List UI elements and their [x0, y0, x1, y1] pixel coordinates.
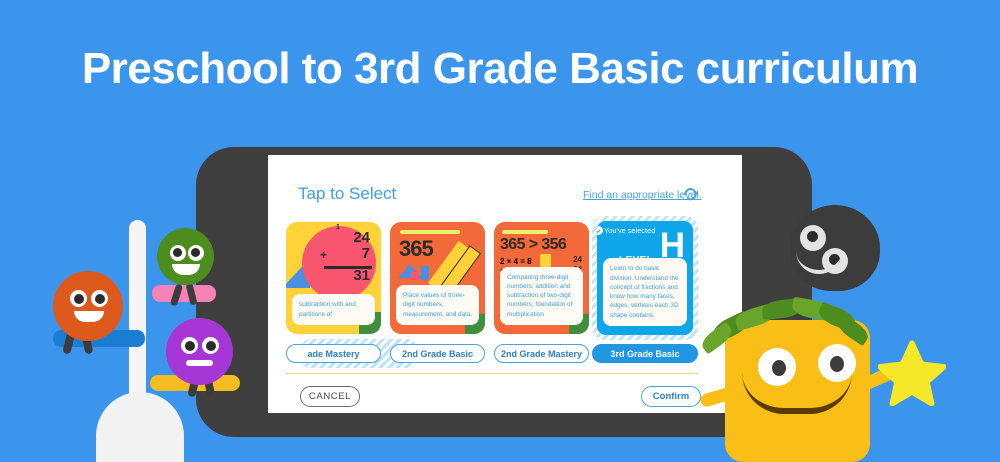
white-pole — [129, 220, 146, 410]
tab-2nd-grade-mastery[interactable]: 2nd Grade Mastery — [494, 344, 589, 363]
eq-line-1: 2 × 4 = 8 — [500, 257, 532, 266]
tab-2nd-grade-basic[interactable]: 2nd Grade Basic — [390, 344, 485, 363]
footer-divider — [286, 373, 698, 374]
check-circle-icon — [597, 226, 603, 235]
level-card-3[interactable]: 365 > 356 2 × 4 = 8 2 × 5 = 10 24 + 24 C… — [494, 222, 589, 334]
sum-result: 31 — [330, 268, 370, 283]
screen-title: Tap to Select — [298, 184, 396, 204]
addend-bottom: 7 — [330, 246, 370, 261]
card-description: Learn to do basic division. Understand t… — [603, 258, 687, 326]
screenshot-stage: Preschool to 3rd Grade Basic curriculum — [0, 0, 1000, 462]
card-description: subtraction with and partitions of — [292, 294, 375, 325]
cancel-button[interactable]: CANCEL — [300, 386, 360, 407]
card-description: Comparing three-digit numbers, addition … — [500, 267, 583, 325]
bar-chart-bar — [421, 266, 429, 280]
grade-tabs: ade Mastery 2nd Grade Basic 2nd Grade Ma… — [286, 344, 698, 364]
star-icon — [878, 340, 946, 406]
bar-chart-icon — [411, 271, 419, 280]
level-letter: H — [660, 231, 685, 261]
selected-badge-text: You've selected — [604, 226, 655, 235]
place-value-number: 365 — [399, 236, 433, 262]
level-card-1[interactable]: 1 24 + 7 31 subtraction with and partiti… — [286, 222, 381, 334]
addend-top: 24 — [330, 230, 370, 245]
level-card-2[interactable]: 365 Place values of three-digit numbers,… — [390, 222, 485, 334]
tab-3rd-grade-basic[interactable]: 3rd Grade Basic — [592, 344, 698, 363]
circular-arrow-icon[interactable] — [682, 185, 699, 202]
selected-badge-label: You've selected — [604, 226, 655, 235]
white-base — [96, 392, 184, 462]
card-description: Place values of three-digit numbers, mea… — [396, 285, 479, 325]
level-card-4-selected[interactable]: You've selected H LEVEL Learn to do basi… — [592, 216, 698, 340]
plus-sign: + — [320, 248, 327, 262]
tab-1st-grade-mastery[interactable]: ade Mastery — [286, 344, 381, 363]
addend-top: 24 — [556, 255, 582, 265]
comparison-expression: 365 > 356 — [500, 236, 566, 254]
page-title: Preschool to 3rd Grade Basic curriculum — [0, 44, 1000, 94]
confirm-button[interactable]: Confirm — [641, 386, 701, 407]
